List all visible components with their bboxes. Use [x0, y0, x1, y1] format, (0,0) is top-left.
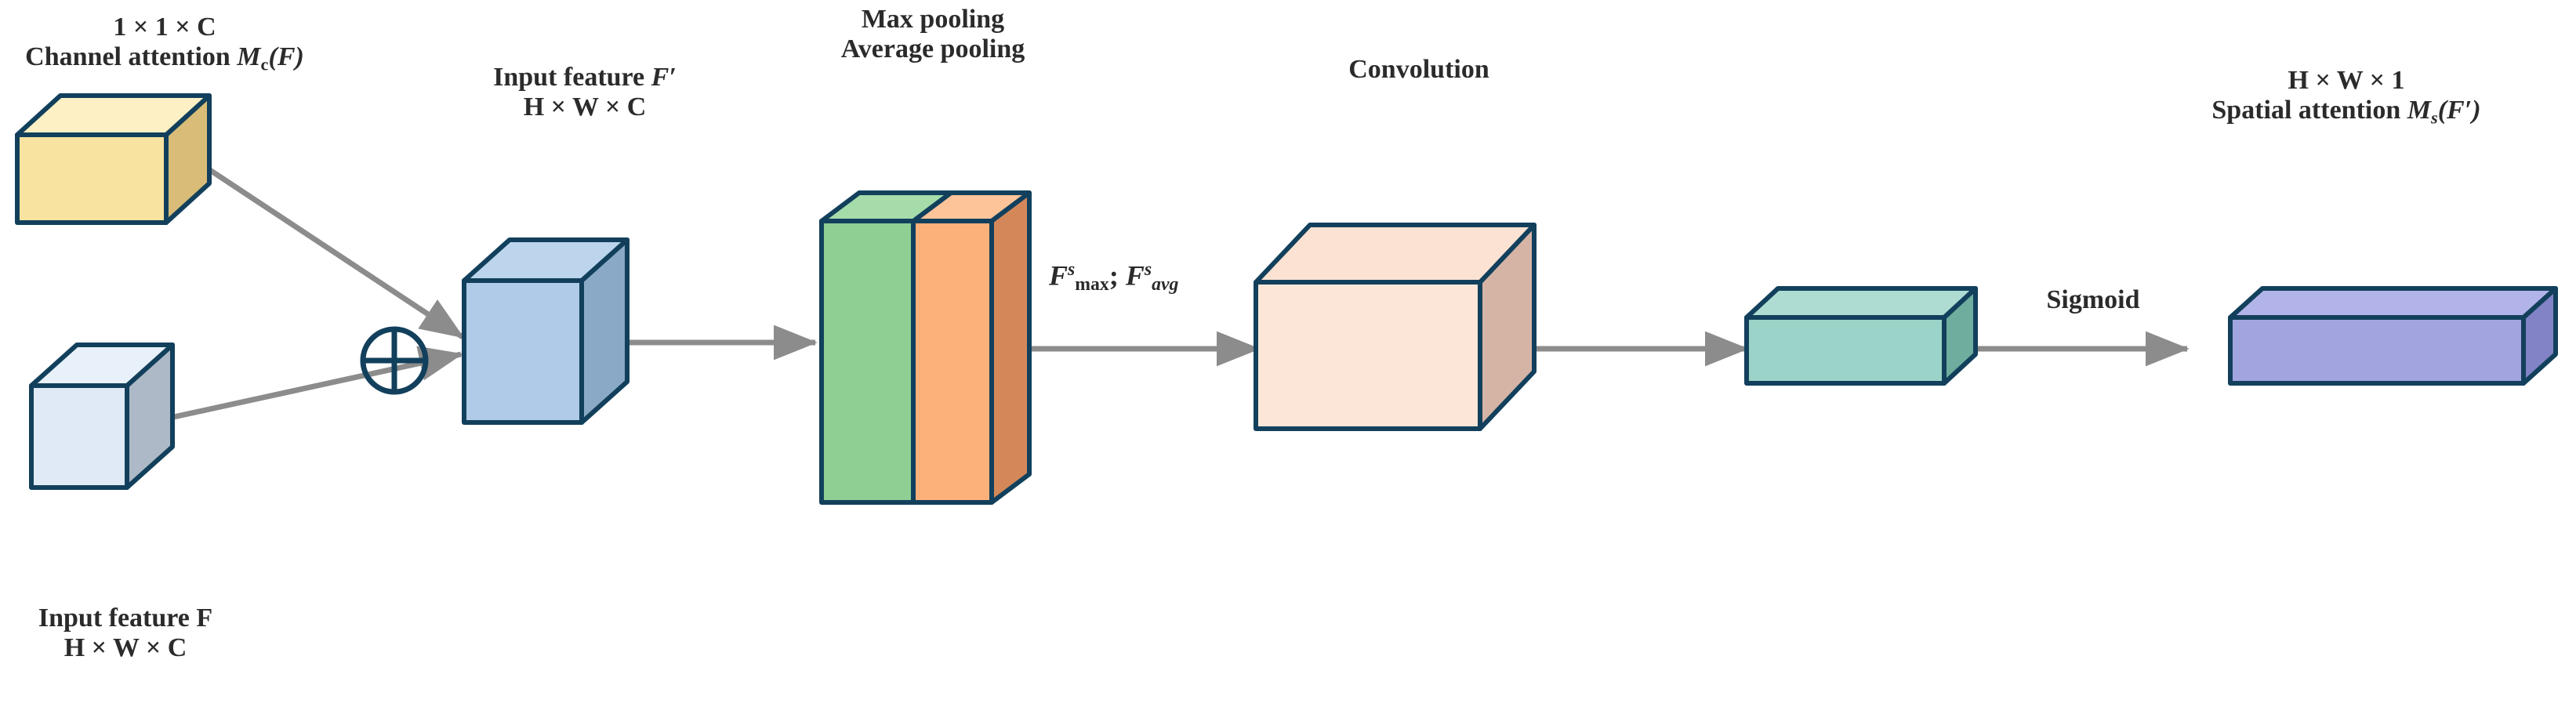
average-pooling-label: Average pooling [776, 33, 1090, 65]
pool-F-max-superscript: s [1068, 259, 1075, 280]
spatial-attention-block-front-face [2230, 317, 2523, 383]
convolution-block [1256, 225, 1534, 429]
channel-attention-block [17, 96, 209, 223]
convolution-block-front-face [1256, 282, 1480, 429]
post-conv-block [1747, 288, 1976, 383]
max-pooling-label: Max pooling [776, 3, 1090, 35]
convolution-label: Convolution [1254, 53, 1584, 85]
circled-plus-icon [363, 329, 426, 392]
channel-attention-M-symbol: M [237, 42, 260, 71]
spatial-attention-M-symbol: M [2407, 96, 2431, 125]
channel-attention-label: Channel attention Mc(F) [0, 41, 329, 75]
input-feature-f-dims-label: H × W × C [0, 632, 251, 664]
pool-formula-separator: ; [1109, 259, 1126, 291]
input-feature-f-label: Input feature F [0, 602, 251, 634]
pool-F-avg: F [1126, 259, 1145, 291]
arrow-channel-to-fprime [180, 150, 463, 337]
avg-pool-front-face [913, 221, 992, 502]
diagram-canvas: 1 × 1 × C Channel attention Mc(F) Input … [0, 0, 2576, 725]
post-conv-block-front-face [1747, 317, 1944, 383]
input-feature-fprime-label: Input feature F′ [436, 61, 734, 93]
fprime-symbol: F′ [651, 63, 677, 92]
avg-pool-side-face [992, 193, 1029, 502]
spatial-attention-subscript: s [2431, 107, 2438, 127]
pool-F-avg-superscript: s [1145, 259, 1152, 280]
pool-F-max: F [1049, 259, 1068, 291]
spatial-dims-label: H × W × 1 [2117, 64, 2576, 96]
pooling-formula-label: Fsmax; Fsavg [1049, 259, 1253, 296]
spatial-attention-label: Spatial attention Ms(F′) [2117, 94, 2576, 129]
input-feature-f-block-front-face [31, 386, 127, 488]
channel-attention-argument: (F) [269, 42, 304, 71]
post-conv-block-top-face [1747, 288, 1976, 317]
max-pool-front-face [822, 221, 913, 502]
input-feature-fprime-block-front-face [464, 281, 582, 422]
pooling-slabs-group [822, 193, 1029, 502]
pool-F-max-subscript: max [1075, 274, 1109, 295]
arrow-f-to-fprime [145, 354, 461, 423]
channel-dims-label: 1 × 1 × C [0, 11, 329, 43]
pool-F-avg-subscript: avg [1152, 274, 1178, 295]
channel-attention-subscript: c [261, 54, 269, 74]
spatial-attention-block [2230, 288, 2556, 383]
sigmoid-label: Sigmoid [1976, 284, 2211, 316]
channel-attention-block-front-face [17, 135, 166, 223]
input-feature-fprime-block [464, 240, 627, 422]
input-feature-fprime-dims-label: H × W × C [436, 91, 734, 123]
spatial-attention-argument: (F′) [2438, 96, 2481, 125]
input-feature-f-block [31, 345, 172, 488]
spatial-attention-block-top-face [2230, 288, 2556, 317]
